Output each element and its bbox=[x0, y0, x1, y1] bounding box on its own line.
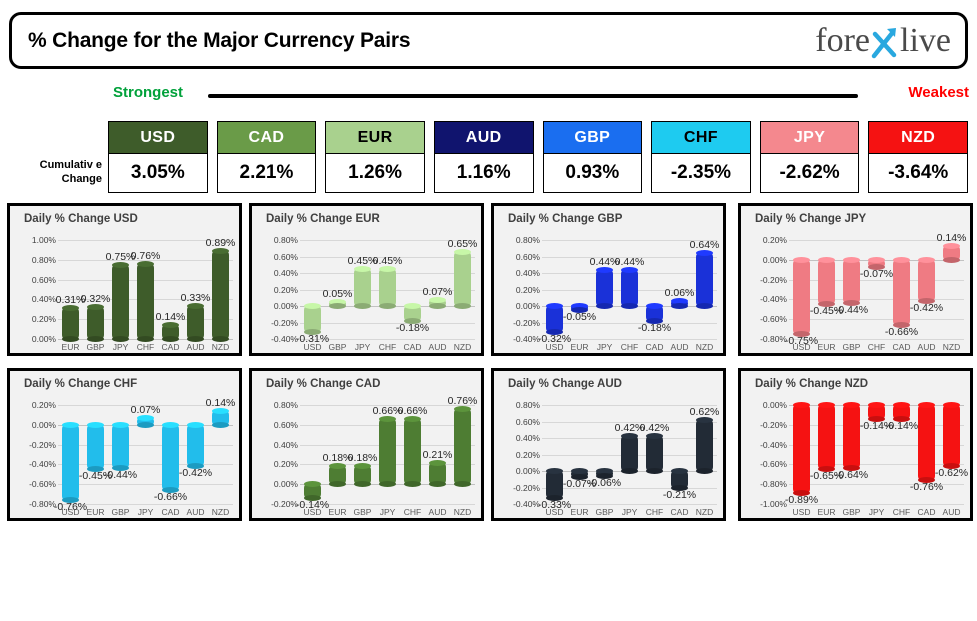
bar-slot: 0.31%EUR bbox=[58, 228, 83, 353]
bar-gbp bbox=[354, 466, 371, 484]
y-tick-label: -0.60% bbox=[29, 479, 56, 489]
x-tick-label: EUR bbox=[818, 507, 836, 517]
cumulative-cell-aud: AUD1.16% bbox=[434, 121, 534, 196]
bar-gbp bbox=[112, 425, 129, 469]
bar-gbp bbox=[596, 471, 613, 476]
y-tick-label: 0.00% bbox=[516, 466, 540, 476]
page-title: % Change for the Major Currency Pairs bbox=[28, 29, 410, 53]
x-tick-label: USD bbox=[304, 342, 322, 352]
y-tick-label: -0.20% bbox=[760, 420, 787, 430]
bar-slot: 0.75%JPY bbox=[108, 228, 133, 353]
data-label: 0.45% bbox=[373, 255, 403, 267]
x-tick-label: JPY bbox=[869, 507, 885, 517]
y-tick-label: 1.00% bbox=[32, 235, 56, 245]
forexlive-logo: fore live bbox=[815, 24, 951, 58]
bar-slot: 0.45%CHF bbox=[375, 228, 400, 353]
cumulative-value-chf: -2.35% bbox=[651, 153, 751, 193]
bar-cad bbox=[646, 306, 663, 321]
bar-slot: -0.66%CAD bbox=[889, 228, 914, 353]
bar-jpy bbox=[596, 270, 613, 306]
bar-nzd bbox=[696, 420, 713, 471]
bar-slot: 0.62%NZD bbox=[692, 393, 717, 518]
currency-code-gbp: GBP bbox=[543, 121, 643, 153]
bar-aud bbox=[187, 425, 204, 467]
x-tick-label: CAD bbox=[404, 342, 422, 352]
data-label: 0.07% bbox=[423, 286, 453, 298]
x-tick-label: EUR bbox=[329, 507, 347, 517]
cumulative-value-eur: 1.26% bbox=[325, 153, 425, 193]
bar-slot: 0.64%NZD bbox=[692, 228, 717, 353]
x-tick-label: JPY bbox=[380, 507, 396, 517]
bar-usd bbox=[304, 306, 321, 332]
bar-slot: 0.76%CHF bbox=[133, 228, 158, 353]
cumulative-value-usd: 3.05% bbox=[108, 153, 208, 193]
bar-slot: -0.45%EUR bbox=[814, 228, 839, 353]
data-label: 0.21% bbox=[423, 449, 453, 461]
bar-slot: 0.44%JPY bbox=[592, 228, 617, 353]
bar-chf bbox=[379, 269, 396, 306]
data-label: 0.32% bbox=[81, 293, 111, 305]
cumulative-cell-gbp: GBP0.93% bbox=[543, 121, 643, 196]
y-axis-chf: -0.80%-0.60%-0.40%-0.20%0.00%0.20% bbox=[14, 393, 58, 518]
chart-title-usd: Daily % Change USD bbox=[24, 213, 138, 225]
x-tick-label: CAD bbox=[162, 507, 180, 517]
chart-title-gbp: Daily % Change GBP bbox=[508, 213, 622, 225]
data-label: 0.89% bbox=[206, 237, 236, 249]
bar-slot: -0.89%USD bbox=[789, 393, 814, 518]
x-tick-label: AUD bbox=[429, 507, 447, 517]
bar-slot: -0.44%GBP bbox=[839, 228, 864, 353]
bar-aud bbox=[918, 260, 935, 302]
data-label: 0.05% bbox=[323, 288, 353, 300]
currency-code-usd: USD bbox=[108, 121, 208, 153]
y-tick-label: -0.20% bbox=[513, 483, 540, 493]
chart-title-cad: Daily % Change CAD bbox=[266, 378, 380, 390]
x-tick-label: CHF bbox=[379, 342, 396, 352]
cumulative-cell-chf: CHF-2.35% bbox=[651, 121, 751, 196]
plot-area-jpy: -0.80%-0.60%-0.40%-0.20%0.00%0.20%-0.75%… bbox=[741, 228, 970, 353]
bar-cad bbox=[893, 260, 910, 325]
x-tick-label: USD bbox=[793, 507, 811, 517]
plot-area-eur: -0.40%-0.20%0.00%0.20%0.40%0.60%0.80%-0.… bbox=[252, 228, 481, 353]
bar-jpy bbox=[379, 419, 396, 484]
bar-series-cad: -0.14%USD0.18%EUR0.18%GBP0.66%JPY0.66%CH… bbox=[300, 393, 475, 518]
y-tick-label: -0.40% bbox=[760, 440, 787, 450]
x-tick-label: CHF bbox=[137, 342, 154, 352]
y-tick-label: 0.00% bbox=[763, 400, 787, 410]
title-bar: % Change for the Major Currency Pairs fo… bbox=[9, 12, 968, 69]
plot-area-nzd: -1.00%-0.80%-0.60%-0.40%-0.20%0.00%-0.89… bbox=[741, 393, 970, 518]
x-tick-label: GBP bbox=[596, 507, 614, 517]
data-label: 0.42% bbox=[640, 422, 670, 434]
bar-usd bbox=[546, 306, 563, 332]
y-tick-label: -0.20% bbox=[271, 318, 298, 328]
bar-eur bbox=[571, 306, 588, 310]
chart-panel-chf: Daily % Change CHF-0.80%-0.60%-0.40%-0.2… bbox=[7, 368, 242, 521]
bar-slot: -0.32%USD bbox=[542, 228, 567, 353]
y-tick-label: 0.80% bbox=[32, 255, 56, 265]
bar-eur bbox=[329, 466, 346, 484]
y-tick-label: 0.00% bbox=[516, 301, 540, 311]
x-tick-label: EUR bbox=[87, 507, 105, 517]
bar-aud bbox=[943, 405, 960, 466]
x-tick-label: JPY bbox=[355, 342, 371, 352]
bar-slot: -0.05%EUR bbox=[567, 228, 592, 353]
y-axis-jpy: -0.80%-0.60%-0.40%-0.20%0.00%0.20% bbox=[745, 228, 789, 353]
bar-slot: -0.06%GBP bbox=[592, 393, 617, 518]
x-tick-label: GBP bbox=[87, 342, 105, 352]
bar-aud bbox=[187, 306, 204, 339]
bar-aud bbox=[429, 300, 446, 306]
data-label: -0.62% bbox=[935, 467, 968, 479]
cumulative-cell-eur: EUR1.26% bbox=[325, 121, 425, 196]
bar-slot: 0.21%AUD bbox=[425, 393, 450, 518]
bar-cad bbox=[162, 425, 179, 490]
data-label: 0.65% bbox=[448, 238, 478, 250]
cumulative-change-row: USD3.05%CAD2.21%EUR1.26%AUD1.16%GBP0.93%… bbox=[108, 121, 968, 196]
chart-panel-nzd: Daily % Change NZD-1.00%-0.80%-0.60%-0.4… bbox=[738, 368, 973, 521]
x-tick-label: JPY bbox=[138, 507, 154, 517]
y-tick-label: -0.20% bbox=[271, 499, 298, 509]
bar-slot: -0.44%GBP bbox=[108, 393, 133, 518]
bar-slot: -0.42%AUD bbox=[183, 393, 208, 518]
y-tick-label: 0.80% bbox=[274, 235, 298, 245]
bar-slot: 0.14%CAD bbox=[158, 228, 183, 353]
y-tick-label: 0.20% bbox=[32, 314, 56, 324]
bar-nzd bbox=[454, 252, 471, 306]
data-label: 0.07% bbox=[131, 404, 161, 416]
y-tick-label: -0.60% bbox=[760, 314, 787, 324]
bar-nzd bbox=[212, 251, 229, 339]
plot-area-chf: -0.80%-0.60%-0.40%-0.20%0.00%0.20%-0.76%… bbox=[10, 393, 239, 518]
plot-area-cad: -0.20%0.00%0.20%0.40%0.60%0.80%-0.14%USD… bbox=[252, 393, 481, 518]
x-tick-label: NZD bbox=[696, 342, 713, 352]
bar-series-usd: 0.31%EUR0.32%GBP0.75%JPY0.76%CHF0.14%CAD… bbox=[58, 228, 233, 353]
y-tick-label: 0.40% bbox=[274, 268, 298, 278]
x-tick-label: JPY bbox=[622, 507, 638, 517]
chart-title-jpy: Daily % Change JPY bbox=[755, 213, 866, 225]
bar-slot: 0.45%JPY bbox=[350, 228, 375, 353]
bar-usd bbox=[793, 260, 810, 334]
cumulative-cell-cad: CAD2.21% bbox=[217, 121, 317, 196]
bar-eur bbox=[818, 260, 835, 305]
y-tick-label: 0.60% bbox=[32, 275, 56, 285]
bar-chf bbox=[137, 264, 154, 339]
bar-slot: -0.64%GBP bbox=[839, 393, 864, 518]
chart-title-eur: Daily % Change EUR bbox=[266, 213, 380, 225]
bar-slot: -0.42%AUD bbox=[914, 228, 939, 353]
bar-cad bbox=[918, 405, 935, 480]
data-label: 0.76% bbox=[448, 395, 478, 407]
x-tick-label: EUR bbox=[571, 507, 589, 517]
bar-slot: 0.65%NZD bbox=[450, 228, 475, 353]
x-tick-label: NZD bbox=[454, 507, 471, 517]
bar-slot: -0.33%USD bbox=[542, 393, 567, 518]
x-tick-label: CHF bbox=[646, 507, 663, 517]
y-tick-label: 0.00% bbox=[32, 420, 56, 430]
bar-nzd bbox=[212, 411, 229, 425]
x-tick-label: EUR bbox=[818, 342, 836, 352]
bar-gbp bbox=[843, 260, 860, 304]
currency-code-aud: AUD bbox=[434, 121, 534, 153]
bar-jpy bbox=[868, 405, 885, 419]
chart-title-aud: Daily % Change AUD bbox=[508, 378, 622, 390]
x-tick-label: GBP bbox=[843, 507, 861, 517]
x-tick-label: JPY bbox=[597, 342, 613, 352]
weakest-label: Weakest bbox=[908, 84, 969, 101]
x-tick-label: AUD bbox=[187, 507, 205, 517]
x-tick-label: GBP bbox=[843, 342, 861, 352]
y-tick-label: -0.20% bbox=[513, 318, 540, 328]
data-label: 0.14% bbox=[206, 397, 236, 409]
cumulative-value-jpy: -2.62% bbox=[760, 153, 860, 193]
y-tick-label: 0.00% bbox=[763, 255, 787, 265]
bar-slot: 0.07%AUD bbox=[425, 228, 450, 353]
x-tick-label: USD bbox=[546, 507, 564, 517]
x-tick-label: USD bbox=[62, 507, 80, 517]
x-tick-label: CAD bbox=[918, 507, 936, 517]
data-label: 0.14% bbox=[937, 232, 967, 244]
bar-eur bbox=[62, 308, 79, 339]
y-tick-label: 0.00% bbox=[32, 334, 56, 344]
bar-slot: 0.33%AUD bbox=[183, 228, 208, 353]
y-tick-label: -0.40% bbox=[271, 334, 298, 344]
y-tick-label: 0.20% bbox=[32, 400, 56, 410]
y-tick-label: 0.00% bbox=[274, 301, 298, 311]
bar-gbp bbox=[843, 405, 860, 468]
x-tick-label: AUD bbox=[918, 342, 936, 352]
x-tick-label: CAD bbox=[162, 342, 180, 352]
cumulative-change-label: Cumulativ e Change bbox=[14, 158, 102, 186]
bar-jpy bbox=[621, 436, 638, 471]
y-tick-label: -1.00% bbox=[760, 499, 787, 509]
bar-slot: -0.66%CAD bbox=[158, 393, 183, 518]
bar-gbp bbox=[87, 307, 104, 339]
bar-series-jpy: -0.75%USD-0.45%EUR-0.44%GBP-0.07%CHF-0.6… bbox=[789, 228, 964, 353]
bar-slot: -0.76%USD bbox=[58, 393, 83, 518]
data-label: 0.14% bbox=[156, 311, 186, 323]
data-label: 0.76% bbox=[131, 250, 161, 262]
chart-title-chf: Daily % Change CHF bbox=[24, 378, 137, 390]
bar-slot: -0.45%EUR bbox=[83, 393, 108, 518]
x-tick-label: EUR bbox=[571, 342, 589, 352]
y-tick-label: 0.00% bbox=[274, 479, 298, 489]
plot-area-gbp: -0.40%-0.20%0.00%0.20%0.40%0.60%0.80%-0.… bbox=[494, 228, 723, 353]
x-tick-label: USD bbox=[304, 507, 322, 517]
bar-gbp bbox=[329, 302, 346, 306]
y-tick-label: 0.20% bbox=[516, 285, 540, 295]
x-tick-label: AUD bbox=[429, 342, 447, 352]
bar-slot: 0.14%NZD bbox=[208, 393, 233, 518]
data-label: 0.18% bbox=[348, 452, 378, 464]
cumulative-value-nzd: -3.64% bbox=[868, 153, 968, 193]
cumulative-value-gbp: 0.93% bbox=[543, 153, 643, 193]
chart-panel-usd: Daily % Change USD0.00%0.20%0.40%0.60%0.… bbox=[7, 203, 242, 356]
bar-slot: 0.18%EUR bbox=[325, 393, 350, 518]
y-axis-cad: -0.20%0.00%0.20%0.40%0.60%0.80% bbox=[256, 393, 300, 518]
y-tick-label: -0.40% bbox=[29, 459, 56, 469]
strength-rule bbox=[208, 94, 858, 98]
bar-nzd bbox=[696, 253, 713, 306]
cumulative-value-aud: 1.16% bbox=[434, 153, 534, 193]
bar-series-aud: -0.33%USD-0.07%EUR-0.06%GBP0.42%JPY0.42%… bbox=[542, 393, 717, 518]
bar-eur bbox=[87, 425, 104, 470]
x-tick-label: NZD bbox=[212, 342, 229, 352]
logo-text-live: live bbox=[900, 24, 951, 58]
forex-dashboard: % Change for the Major Currency Pairs fo… bbox=[0, 0, 977, 621]
data-label: 0.64% bbox=[690, 239, 720, 251]
chart-panel-eur: Daily % Change EUR-0.40%-0.20%0.00%0.20%… bbox=[249, 203, 484, 356]
y-tick-label: -0.40% bbox=[513, 499, 540, 509]
x-tick-label: CHF bbox=[621, 342, 638, 352]
x-tick-label: NZD bbox=[696, 507, 713, 517]
bar-jpy bbox=[137, 418, 154, 425]
x-tick-label: AUD bbox=[187, 342, 205, 352]
y-tick-label: -0.20% bbox=[760, 275, 787, 285]
bar-slot: -0.18%CAD bbox=[400, 228, 425, 353]
currency-code-cad: CAD bbox=[217, 121, 317, 153]
x-tick-label: GBP bbox=[112, 507, 130, 517]
cumulative-cell-jpy: JPY-2.62% bbox=[760, 121, 860, 196]
strength-band: Strongest Weakest bbox=[0, 84, 977, 110]
bar-slot: 0.14%NZD bbox=[939, 228, 964, 353]
currency-code-eur: EUR bbox=[325, 121, 425, 153]
x-tick-label: CAD bbox=[646, 342, 664, 352]
bar-slot: 0.66%JPY bbox=[375, 393, 400, 518]
bar-aud bbox=[429, 463, 446, 484]
y-tick-label: 0.60% bbox=[274, 252, 298, 262]
bar-cad bbox=[404, 306, 421, 321]
bar-slot: -0.14%JPY bbox=[864, 393, 889, 518]
chart-panel-gbp: Daily % Change GBP-0.40%-0.20%0.00%0.20%… bbox=[491, 203, 726, 356]
bar-chf bbox=[868, 260, 885, 267]
bar-cad bbox=[671, 471, 688, 488]
bar-usd bbox=[304, 484, 321, 498]
y-tick-label: 0.40% bbox=[516, 268, 540, 278]
plot-area-aud: -0.40%-0.20%0.00%0.20%0.40%0.60%0.80%-0.… bbox=[494, 393, 723, 518]
bar-eur bbox=[818, 405, 835, 469]
y-tick-label: -0.40% bbox=[513, 334, 540, 344]
y-tick-label: 0.40% bbox=[32, 294, 56, 304]
bar-slot: 0.06%AUD bbox=[667, 228, 692, 353]
bar-usd bbox=[62, 425, 79, 500]
bar-cad bbox=[162, 325, 179, 339]
data-label: 0.62% bbox=[690, 406, 720, 418]
currency-code-jpy: JPY bbox=[760, 121, 860, 153]
bar-usd bbox=[793, 405, 810, 493]
bar-slot: -0.14%CHF bbox=[889, 393, 914, 518]
logo-x-arrow-icon bbox=[870, 24, 900, 58]
bar-slot: -0.07%EUR bbox=[567, 393, 592, 518]
x-tick-label: USD bbox=[546, 342, 564, 352]
bar-jpy bbox=[112, 265, 129, 339]
y-axis-gbp: -0.40%-0.20%0.00%0.20%0.40%0.60%0.80% bbox=[498, 228, 542, 353]
bar-usd bbox=[546, 471, 563, 498]
strongest-label: Strongest bbox=[113, 84, 183, 101]
bar-chf bbox=[893, 405, 910, 419]
y-axis-aud: -0.40%-0.20%0.00%0.20%0.40%0.60%0.80% bbox=[498, 393, 542, 518]
x-tick-label: AUD bbox=[671, 342, 689, 352]
bar-series-gbp: -0.32%USD-0.05%EUR0.44%JPY0.44%CHF-0.18%… bbox=[542, 228, 717, 353]
bar-slot: -0.65%EUR bbox=[814, 393, 839, 518]
y-tick-label: 0.60% bbox=[516, 252, 540, 262]
bar-aud bbox=[671, 301, 688, 306]
bar-slot: 0.44%CHF bbox=[617, 228, 642, 353]
chart-panel-jpy: Daily % Change JPY-0.80%-0.60%-0.40%-0.2… bbox=[738, 203, 973, 356]
y-tick-label: 0.80% bbox=[516, 400, 540, 410]
chart-panel-cad: Daily % Change CAD-0.20%0.00%0.20%0.40%0… bbox=[249, 368, 484, 521]
bar-slot: 0.18%GBP bbox=[350, 393, 375, 518]
cumulative-value-cad: 2.21% bbox=[217, 153, 317, 193]
y-tick-label: 0.20% bbox=[516, 450, 540, 460]
bar-slot: 0.76%NZD bbox=[450, 393, 475, 518]
cumulative-cell-usd: USD3.05% bbox=[108, 121, 208, 196]
x-tick-label: CAD bbox=[671, 507, 689, 517]
x-tick-label: NZD bbox=[454, 342, 471, 352]
x-tick-label: GBP bbox=[354, 507, 372, 517]
y-tick-label: 0.80% bbox=[516, 235, 540, 245]
bar-nzd bbox=[454, 409, 471, 484]
bar-jpy bbox=[354, 269, 371, 306]
bar-eur bbox=[571, 471, 588, 477]
bar-series-chf: -0.76%USD-0.45%EUR-0.44%GBP0.07%JPY-0.66… bbox=[58, 393, 233, 518]
bar-chf bbox=[404, 419, 421, 484]
y-tick-label: 0.40% bbox=[516, 433, 540, 443]
x-tick-label: NZD bbox=[943, 342, 960, 352]
bar-slot: -0.31%USD bbox=[300, 228, 325, 353]
x-tick-label: CHF bbox=[868, 342, 885, 352]
x-tick-label: EUR bbox=[62, 342, 80, 352]
y-tick-label: 0.20% bbox=[274, 285, 298, 295]
y-tick-label: 0.40% bbox=[274, 440, 298, 450]
y-tick-label: -0.40% bbox=[760, 294, 787, 304]
data-label: 0.44% bbox=[615, 256, 645, 268]
x-tick-label: JPY bbox=[113, 342, 129, 352]
x-tick-label: USD bbox=[793, 342, 811, 352]
bar-slot: -0.75%USD bbox=[789, 228, 814, 353]
bar-slot: -0.62%AUD bbox=[939, 393, 964, 518]
currency-code-chf: CHF bbox=[651, 121, 751, 153]
bar-chf bbox=[646, 436, 663, 471]
currency-code-nzd: NZD bbox=[868, 121, 968, 153]
x-tick-label: CHF bbox=[893, 507, 910, 517]
y-tick-label: 0.60% bbox=[274, 420, 298, 430]
bar-slot: 0.05%GBP bbox=[325, 228, 350, 353]
bar-slot: 0.32%GBP bbox=[83, 228, 108, 353]
x-tick-label: AUD bbox=[943, 507, 961, 517]
y-axis-usd: 0.00%0.20%0.40%0.60%0.80%1.00% bbox=[14, 228, 58, 353]
y-tick-label: 0.20% bbox=[763, 235, 787, 245]
y-axis-eur: -0.40%-0.20%0.00%0.20%0.40%0.60%0.80% bbox=[256, 228, 300, 353]
chart-title-nzd: Daily % Change NZD bbox=[755, 378, 868, 390]
data-label: 0.66% bbox=[398, 405, 428, 417]
chart-panel-aud: Daily % Change AUD-0.40%-0.20%0.00%0.20%… bbox=[491, 368, 726, 521]
bar-chf bbox=[621, 270, 638, 306]
plot-area-usd: 0.00%0.20%0.40%0.60%0.80%1.00%0.31%EUR0.… bbox=[10, 228, 239, 353]
y-axis-nzd: -1.00%-0.80%-0.60%-0.40%-0.20%0.00% bbox=[745, 393, 789, 518]
y-tick-label: 0.80% bbox=[274, 400, 298, 410]
y-tick-label: -0.80% bbox=[29, 499, 56, 509]
bar-series-nzd: -0.89%USD-0.65%EUR-0.64%GBP-0.14%JPY-0.1… bbox=[789, 393, 964, 518]
bar-slot: -0.21%CAD bbox=[667, 393, 692, 518]
y-tick-label: -0.80% bbox=[760, 479, 787, 489]
bar-slot: 0.66%CHF bbox=[400, 393, 425, 518]
y-tick-label: -0.20% bbox=[29, 440, 56, 450]
x-tick-label: CHF bbox=[404, 507, 421, 517]
y-tick-label: -0.60% bbox=[760, 459, 787, 469]
bar-slot: 0.89%NZD bbox=[208, 228, 233, 353]
data-label: 0.33% bbox=[181, 292, 211, 304]
